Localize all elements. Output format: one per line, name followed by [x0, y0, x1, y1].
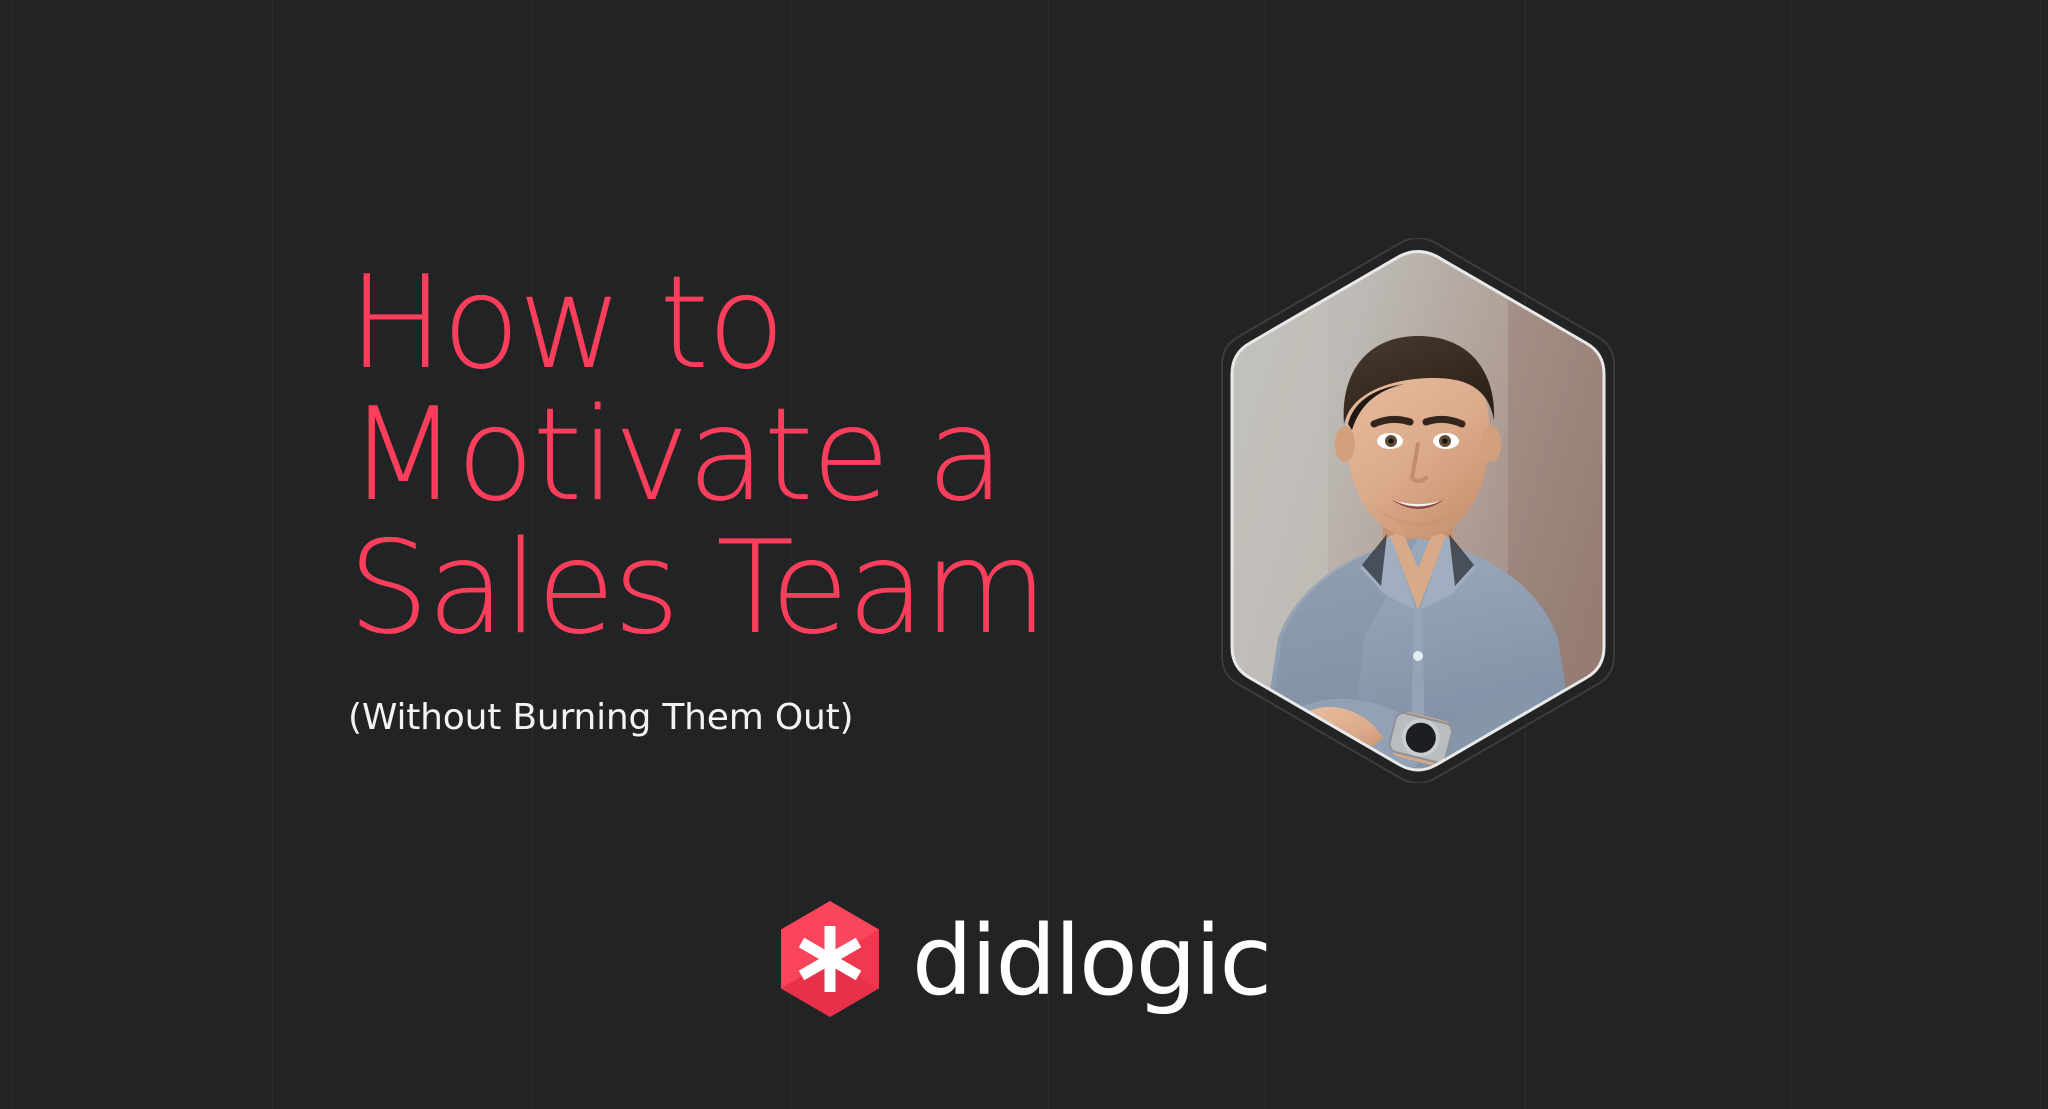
- speaker-portrait: [1178, 238, 1658, 783]
- brand-wordmark: didlogic: [912, 913, 1270, 1009]
- brand-lockup: didlogic: [0, 900, 2048, 1018]
- portrait-photo: [1178, 238, 1658, 783]
- hexagon-portrait-frame: [1178, 238, 1658, 783]
- page-subtitle: (Without Burning Them Out): [348, 697, 1148, 738]
- cover-canvas: How to Motivate a Sales Team (Without Bu…: [0, 0, 2048, 1109]
- didlogic-hexagon-asterisk-logo: [778, 900, 882, 1018]
- page-title: How to Motivate a Sales Team: [348, 258, 1148, 655]
- hero-text-block: How to Motivate a Sales Team (Without Bu…: [348, 258, 1148, 738]
